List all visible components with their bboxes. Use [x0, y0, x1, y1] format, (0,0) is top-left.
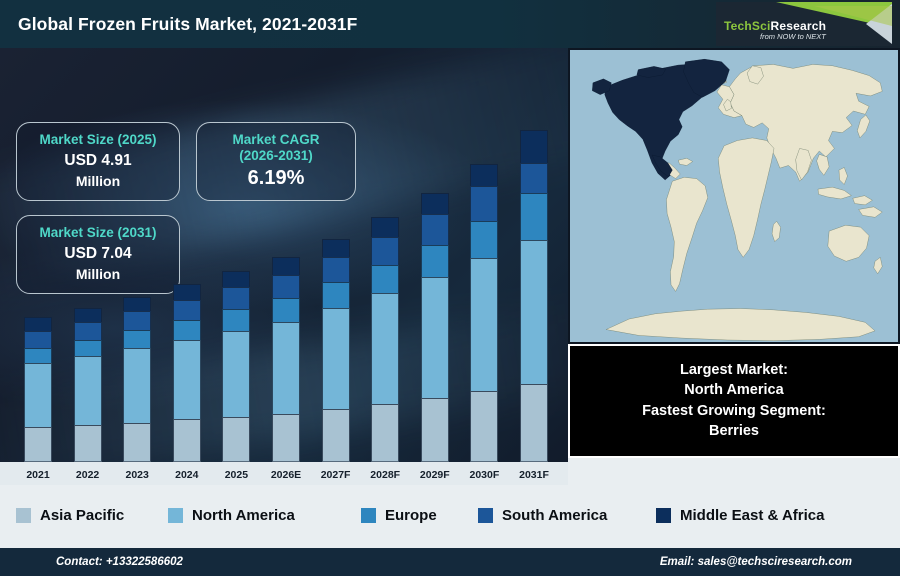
- legend-item-middle-east-africa[interactable]: Middle East & Africa: [656, 507, 824, 524]
- largest-market-value: North America: [684, 381, 783, 400]
- header-bar: Global Frozen Fruits Market, 2021-2031F …: [0, 0, 900, 48]
- bar-segment[interactable]: [123, 348, 151, 422]
- x-tick-label: 2024: [159, 469, 215, 481]
- page-title: Global Frozen Fruits Market, 2021-2031F: [18, 14, 357, 35]
- bar-segment[interactable]: [123, 330, 151, 348]
- x-tick-label: 2025: [208, 469, 264, 481]
- bar-segment[interactable]: [74, 425, 102, 462]
- legend-swatch: [168, 508, 183, 523]
- bar-segment[interactable]: [24, 331, 52, 347]
- legend-item-europe[interactable]: Europe: [361, 507, 437, 524]
- bar-segment[interactable]: [520, 193, 548, 240]
- bar-group-2021[interactable]: [24, 317, 52, 462]
- bar-segment[interactable]: [470, 258, 498, 391]
- bar-segment[interactable]: [123, 311, 151, 329]
- bar-segment[interactable]: [470, 391, 498, 462]
- chart-legend: Asia PacificNorth AmericaEuropeSouth Ame…: [0, 485, 900, 545]
- logo-name-part1: TechSci: [724, 19, 771, 33]
- bar-segment[interactable]: [272, 275, 300, 298]
- bar-segment[interactable]: [222, 309, 250, 331]
- footer-email: Email: sales@techsciresearch.com: [660, 556, 852, 568]
- bar-segment[interactable]: [24, 427, 52, 462]
- bar-segment[interactable]: [371, 293, 399, 404]
- legend-swatch: [656, 508, 671, 523]
- bar-segment[interactable]: [371, 217, 399, 237]
- bar-segment[interactable]: [24, 363, 52, 427]
- bar-segment[interactable]: [123, 297, 151, 312]
- bar-segment[interactable]: [322, 257, 350, 282]
- bar-segment[interactable]: [421, 245, 449, 277]
- x-tick-label: 2022: [60, 469, 116, 481]
- bar-segment[interactable]: [173, 419, 201, 462]
- fastest-segment-label: Fastest Growing Segment:: [642, 402, 826, 421]
- footer-bar: Contact: +13322586602 Email: sales@techs…: [0, 548, 900, 576]
- x-tick-label: 2027F: [308, 469, 364, 481]
- stacked-bar-plot: [0, 48, 568, 485]
- bar-segment[interactable]: [74, 356, 102, 425]
- bar-segment[interactable]: [470, 221, 498, 258]
- x-tick-label: 2031F: [506, 469, 562, 481]
- bar-segment[interactable]: [74, 308, 102, 322]
- bar-segment[interactable]: [173, 300, 201, 320]
- x-tick-label: 2029F: [407, 469, 463, 481]
- bar-segment[interactable]: [322, 308, 350, 409]
- world-map: [570, 50, 898, 342]
- legend-label: Europe: [385, 507, 437, 524]
- bar-segment[interactable]: [272, 322, 300, 414]
- x-tick-label: 2023: [109, 469, 165, 481]
- legend-swatch: [16, 508, 31, 523]
- legend-item-south-america[interactable]: South America: [478, 507, 607, 524]
- bar-segment[interactable]: [173, 340, 201, 420]
- logo-name-part2: Research: [771, 19, 827, 33]
- bar-segment[interactable]: [421, 398, 449, 462]
- bar-segment[interactable]: [421, 193, 449, 214]
- bar-segment[interactable]: [74, 340, 102, 356]
- legend-swatch: [361, 508, 376, 523]
- bar-segment[interactable]: [322, 409, 350, 462]
- world-map-panel: [568, 48, 900, 344]
- legend-label: Asia Pacific: [40, 507, 124, 524]
- largest-market-label: Largest Market:: [680, 361, 788, 380]
- bar-segment[interactable]: [322, 239, 350, 257]
- bar-segment[interactable]: [173, 284, 201, 299]
- x-tick-label: 2021: [10, 469, 66, 481]
- key-insights-box: Largest Market: North America Fastest Gr…: [568, 344, 900, 458]
- bar-group-2028F[interactable]: [371, 217, 399, 462]
- logo-tagline: from NOW to NEXT: [760, 32, 826, 41]
- bar-segment[interactable]: [520, 163, 548, 193]
- bar-segment[interactable]: [222, 287, 250, 309]
- fastest-segment-value: Berries: [709, 422, 759, 441]
- bar-segment[interactable]: [24, 348, 52, 363]
- bar-group-2025[interactable]: [222, 271, 250, 462]
- x-tick-label: 2030F: [456, 469, 512, 481]
- bar-segment[interactable]: [470, 186, 498, 221]
- bar-segment[interactable]: [322, 282, 350, 308]
- infographic-page: Global Frozen Fruits Market, 2021-2031F …: [0, 0, 900, 576]
- legend-item-north-america[interactable]: North America: [168, 507, 295, 524]
- bar-segment[interactable]: [421, 277, 449, 399]
- bar-segment[interactable]: [272, 298, 300, 322]
- bar-group-2026E[interactable]: [272, 257, 300, 462]
- bar-segment[interactable]: [520, 384, 548, 462]
- bar-segment[interactable]: [123, 423, 151, 462]
- bar-segment[interactable]: [272, 414, 300, 462]
- bar-segment[interactable]: [470, 164, 498, 186]
- bar-segment[interactable]: [371, 404, 399, 462]
- bar-segment[interactable]: [520, 240, 548, 384]
- bar-group-2024[interactable]: [173, 284, 201, 462]
- legend-swatch: [478, 508, 493, 523]
- legend-item-asia-pacific[interactable]: Asia Pacific: [16, 507, 124, 524]
- x-tick-label: 2028F: [357, 469, 413, 481]
- x-tick-label: 2026E: [258, 469, 314, 481]
- legend-label: North America: [192, 507, 295, 524]
- bar-group-2031F[interactable]: [520, 130, 548, 462]
- bar-segment[interactable]: [371, 265, 399, 294]
- bar-segment[interactable]: [371, 237, 399, 265]
- bar-segment[interactable]: [222, 331, 250, 417]
- footer-contact: Contact: +13322586602: [56, 556, 183, 568]
- legend-label: South America: [502, 507, 607, 524]
- bar-group-2030F[interactable]: [470, 164, 498, 462]
- bar-segment[interactable]: [173, 320, 201, 340]
- legend-label: Middle East & Africa: [680, 507, 824, 524]
- bar-segment[interactable]: [222, 271, 250, 287]
- bar-segment[interactable]: [24, 317, 52, 331]
- bar-segment[interactable]: [222, 417, 250, 462]
- bar-group-2029F[interactable]: [421, 193, 449, 462]
- bar-segment[interactable]: [272, 257, 300, 274]
- bar-group-2027F[interactable]: [322, 239, 350, 462]
- bar-group-2023[interactable]: [123, 297, 151, 462]
- bar-group-2022[interactable]: [74, 308, 102, 462]
- world-map-svg: [570, 50, 898, 342]
- bar-segment[interactable]: [520, 130, 548, 163]
- bar-segment[interactable]: [74, 322, 102, 339]
- chart-panel: Market Size (2025) USD 4.91 Million Mark…: [0, 48, 568, 485]
- techsci-logo[interactable]: TechSciResearch from NOW to NEXT: [716, 2, 892, 46]
- logo-wordmark: TechSciResearch: [724, 19, 826, 33]
- bar-segment[interactable]: [421, 214, 449, 245]
- x-axis: 202120222023202420252026E2027F2028F2029F…: [0, 462, 568, 485]
